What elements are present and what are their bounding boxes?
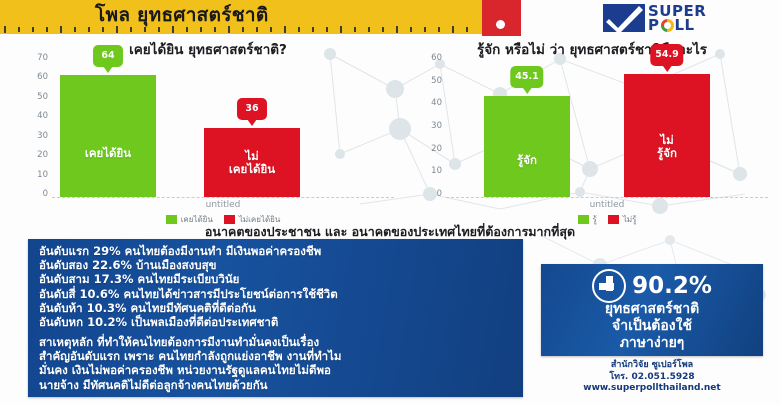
y-axis-tick-label: 60 bbox=[37, 73, 48, 81]
y-axis-tick-label: 30 bbox=[37, 132, 48, 140]
chart-know-bars: รู้จัก45.1ไม่รู้จัก54.9 bbox=[446, 58, 768, 197]
bar-no[interactable]: ไม่เคยได้ยิน36 bbox=[204, 128, 300, 197]
ranked-finding-line: อันดับหก 10.2% เป็นพลเมืองที่ดีต่อประเทศ… bbox=[39, 315, 517, 329]
ruler-tick bbox=[4, 26, 6, 33]
chart-heard-baseline bbox=[52, 197, 394, 198]
superpoll-logo: SUPER PLL bbox=[603, 2, 768, 34]
paragraph-line: มั่นคง เงินไม่พอค่าครองชีพ หน่วยงานรัฐดู… bbox=[39, 363, 517, 377]
y-axis-tick-label: 10 bbox=[431, 167, 442, 175]
ranked-finding-line: อันดับห้า 10.3% คนไทยมีทัศนคติที่ดีต่อกั… bbox=[39, 301, 517, 315]
paragraph-line: สำคัญอันดับแรก เพราะ คนไทยกำลังถูกแย่งอา… bbox=[39, 349, 517, 363]
header-bar: โพล ยุทธศาสตร์ชาติ SUPER PLL bbox=[0, 0, 780, 34]
footer-website[interactable]: www.superpollthailand.net bbox=[541, 383, 763, 395]
chart-know-xlabel: untitled bbox=[446, 200, 768, 211]
ruler-tick bbox=[32, 27, 34, 32]
y-axis-tick-label: 20 bbox=[37, 151, 48, 159]
bar-value-text: 45.1 bbox=[515, 71, 538, 82]
ruler-tick bbox=[466, 27, 468, 32]
y-axis-tick-label: 40 bbox=[37, 112, 48, 120]
logo-p-letter: P bbox=[648, 16, 660, 34]
badge-line-1: ยุทธศาสตร์ชาติ bbox=[541, 301, 763, 318]
chart-know-baseline bbox=[446, 197, 768, 198]
bar-value-text: 54.9 bbox=[655, 49, 678, 60]
bar-yes[interactable]: รู้จัก45.1 bbox=[484, 96, 570, 197]
badge-top-row: 90.2% bbox=[541, 269, 763, 303]
badge-percent: 90.2% bbox=[632, 271, 712, 301]
ranked-findings-list: อันดับแรก 29% คนไทยต้องมีงานทำ มีเงินพอค… bbox=[39, 244, 517, 329]
plus-circle-icon bbox=[592, 269, 626, 303]
bar-fill bbox=[484, 96, 570, 197]
logo-poll-text: PLL bbox=[648, 16, 695, 34]
bar-inner-label: ไม่รู้จัก bbox=[624, 134, 710, 160]
ranked-finding-line: อันดับแรก 29% คนไทยต้องมีงานทำ มีเงินพอค… bbox=[39, 244, 517, 258]
chart-know-plot: 6050403020100 รู้จัก45.1ไม่รู้จัก54.9 bbox=[412, 58, 772, 198]
chart-know: รู้จัก หรือไม่ ว่า ยุทธศาสตร์ชาติคืออะไร… bbox=[412, 34, 772, 224]
charts-region: เคยได้ยิน ยุทธศาสตร์ชาติ? 70605040302010… bbox=[0, 34, 780, 224]
paragraph-line: นายจ้าง มีทัศนคติไม่ดีต่อลูกจ้างคนไทยด้ว… bbox=[39, 378, 517, 392]
y-axis-tick-label: 30 bbox=[431, 122, 442, 130]
chart-heard-xlabel: untitled bbox=[52, 200, 394, 211]
chart-know-title: รู้จัก หรือไม่ ว่า ยุทธศาสตร์ชาติคืออะไร bbox=[412, 38, 772, 60]
y-axis-tick-label: 50 bbox=[431, 77, 442, 85]
chart-heard-bars: เคยได้ยิน64ไม่เคยได้ยิน36 bbox=[52, 58, 394, 197]
logo-check-box bbox=[603, 4, 645, 32]
ranked-finding-line: อันดับสอง 22.6% บ้านเมืองสงบสุข bbox=[39, 258, 517, 272]
header-red-block bbox=[482, 0, 521, 36]
header-red-dot bbox=[496, 20, 505, 29]
ranked-finding-line: อันดับสาม 17.3% คนไทยมีระเบียบวินัย bbox=[39, 272, 517, 286]
footer-phone: โทร. 02.051.5928 bbox=[541, 372, 763, 384]
chart-heard-yaxis: 706050403020100 bbox=[18, 58, 52, 198]
bar-value-text: 64 bbox=[101, 50, 114, 61]
bar-value-callout: 45.1 bbox=[510, 66, 543, 88]
bar-yes[interactable]: เคยได้ยิน64 bbox=[60, 75, 156, 198]
footer-contact: สำนักวิจัย ซูเปอร์โพล โทร. 02.051.5928 w… bbox=[541, 360, 763, 395]
logo-ll-letters: LL bbox=[675, 16, 695, 34]
y-axis-tick-label: 20 bbox=[431, 145, 442, 153]
ruler-tick bbox=[74, 27, 76, 32]
findings-panel: อันดับแรก 29% คนไทยต้องมีงานทำ มีเงินพอค… bbox=[28, 239, 523, 397]
ranked-finding-line: อันดับสี่ 10.6% คนไทยได้ข่าวสารมีประโยชน… bbox=[39, 287, 517, 301]
chart-heard-title: เคยได้ยิน ยุทธศาสตร์ชาติ? bbox=[18, 38, 398, 60]
chart-heard: เคยได้ยิน ยุทธศาสตร์ชาติ? 70605040302010… bbox=[18, 34, 398, 224]
bar-value-callout: 36 bbox=[237, 98, 267, 120]
bar-value-callout: 54.9 bbox=[650, 44, 683, 66]
footer-org: สำนักวิจัย ซูเปอร์โพล bbox=[541, 360, 763, 372]
bar-value-callout: 64 bbox=[93, 45, 123, 67]
findings-paragraph: สาเหตุหลัก ที่ทำให้คนไทยต้องการมีงานทำมั… bbox=[39, 335, 517, 392]
bar-fill bbox=[60, 75, 156, 198]
page-title: โพล ยุทธศาสตร์ชาติ bbox=[95, 2, 455, 30]
bar-inner-label: ไม่เคยได้ยิน bbox=[204, 150, 300, 176]
paragraph-line: สาเหตุหลัก ที่ทำให้คนไทยต้องการมีงานทำมั… bbox=[39, 335, 517, 349]
badge-line-3: ภาษาง่ายๆ bbox=[541, 335, 763, 352]
bar-inner-label: รู้จัก bbox=[484, 154, 570, 167]
bar-value-text: 36 bbox=[245, 103, 258, 114]
panel-heading: อนาคตของประชาชน และ อนาคตของประเทศไทยที่… bbox=[0, 222, 780, 239]
logo-o-circle bbox=[661, 19, 674, 32]
check-icon bbox=[605, 4, 643, 34]
y-axis-tick-label: 0 bbox=[437, 190, 442, 198]
y-axis-tick-label: 10 bbox=[37, 171, 48, 179]
badge-line-2: จำเป็นต้องใช้ bbox=[541, 318, 763, 335]
ruler-tick bbox=[18, 27, 20, 32]
y-axis-tick-label: 50 bbox=[37, 93, 48, 101]
highlight-badge: 90.2% ยุทธศาสตร์ชาติ จำเป็นต้องใช้ ภาษาง… bbox=[541, 264, 763, 356]
y-axis-tick-label: 40 bbox=[431, 99, 442, 107]
bar-no[interactable]: ไม่รู้จัก54.9 bbox=[624, 74, 710, 197]
ruler-tick bbox=[60, 26, 62, 33]
y-axis-tick-label: 70 bbox=[37, 54, 48, 62]
infographic-page: โพล ยุทธศาสตร์ชาติ SUPER PLL เคยได้ยิน ย… bbox=[0, 0, 780, 405]
bar-inner-label: เคยได้ยิน bbox=[60, 147, 156, 160]
ruler-tick bbox=[88, 27, 90, 32]
y-axis-tick-label: 60 bbox=[431, 54, 442, 62]
ruler-tick bbox=[46, 27, 48, 32]
chart-heard-plot: 706050403020100 เคยได้ยิน64ไม่เคยได้ยิน3… bbox=[18, 58, 398, 198]
chart-know-yaxis: 6050403020100 bbox=[412, 58, 446, 198]
y-axis-tick-label: 0 bbox=[43, 190, 48, 198]
